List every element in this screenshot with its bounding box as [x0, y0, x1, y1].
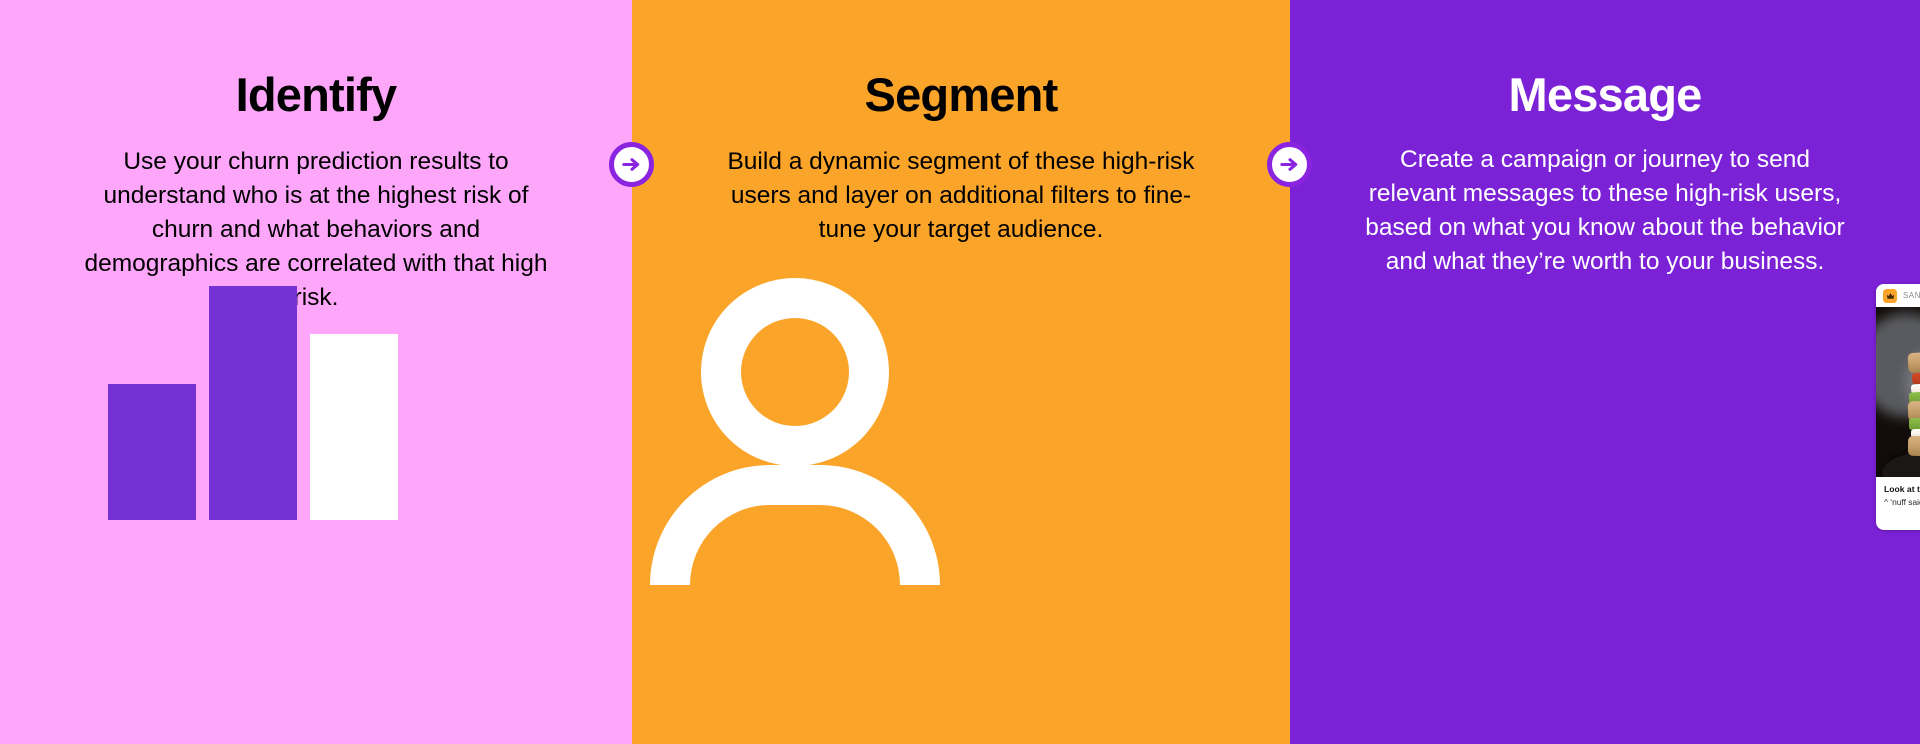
bar-chart-icon	[108, 280, 408, 520]
panel-segment-body: Build a dynamic segment of these high-ri…	[711, 145, 1211, 246]
person-shoulders-shape	[650, 465, 940, 585]
panel-message-body: Create a campaign or journey to send rel…	[1355, 143, 1855, 278]
panel-segment-title: Segment	[632, 70, 1290, 119]
arrow-right-icon	[609, 142, 654, 187]
bar-chart-bar-2	[209, 286, 297, 520]
push-notification-body: Look at this beaut’ ^ ‘nuff said. Take a…	[1876, 477, 1920, 509]
push-notification-header: SANDWICH EMPEROR now	[1876, 284, 1920, 307]
panel-message-content: Message Create a campaign or journey to …	[1290, 0, 1920, 744]
sandwich-photo	[1876, 307, 1920, 477]
arrow-right-icon	[1267, 142, 1312, 187]
panel-message-title: Message	[1290, 70, 1920, 119]
panel-message: Message Create a campaign or journey to …	[1290, 0, 1920, 744]
panel-segment: Segment Build a dynamic segment of these…	[632, 0, 1290, 744]
bar-chart-bar-3	[310, 334, 398, 520]
panel-identify-title: Identify	[0, 70, 632, 119]
push-notification-subtitle: ^ ‘nuff said. Take a bite for yourself.	[1884, 497, 1920, 508]
three-step-infographic: Identify Use your churn prediction resul…	[0, 0, 1920, 744]
photo-sandwich	[1908, 345, 1920, 465]
sandwich-layer	[1908, 436, 1920, 458]
crown-icon	[1883, 289, 1897, 303]
push-notification-title: Look at this beaut’	[1884, 484, 1920, 495]
push-notification-app-name: SANDWICH EMPEROR	[1903, 291, 1920, 300]
person-head-shape	[701, 278, 889, 466]
bar-chart-bar-1	[108, 384, 196, 520]
sandwich-layer	[1908, 345, 1920, 374]
push-notification-card: SANDWICH EMPEROR now	[1876, 284, 1920, 530]
person-icon	[650, 278, 940, 528]
panel-identify: Identify Use your churn prediction resul…	[0, 0, 632, 744]
